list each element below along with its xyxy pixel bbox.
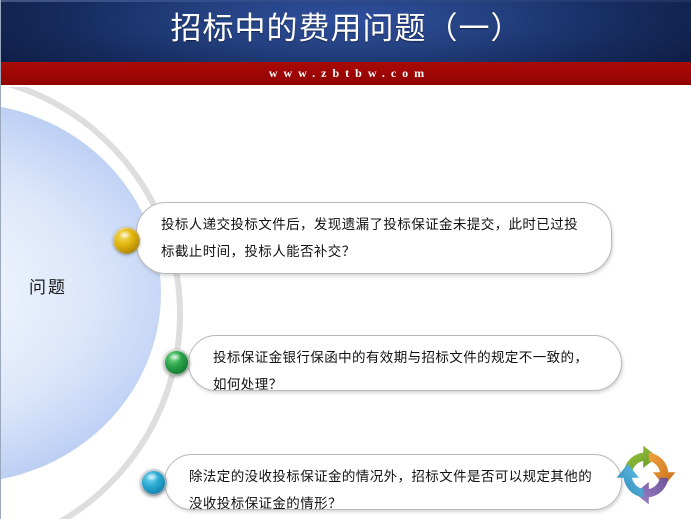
bullet-blue-highlight [146, 473, 158, 481]
page-title: 招标中的费用问题（一） [1, 5, 691, 53]
topic-label: 问题 [29, 273, 67, 298]
bullet-green-icon[interactable] [163, 349, 190, 376]
callout-text: 投标保证金银行保函中的有效期与招标文件的规定不一致的，如何处理？ [213, 345, 599, 399]
callout-text: 投标人递交投标文件后，发现遗漏了投标保证金未提交，此时已过投标截止时间，投标人能… [161, 212, 589, 266]
bullet-gold-icon[interactable] [113, 227, 140, 254]
presentation-slide: 招标中的费用问题（一） www.zbtbw.com 问题 投标人递交投标文件后，… [0, 0, 691, 519]
callout-box[interactable]: 除法定的没收投标保证金的情况外，招标文件是否可以规定其他的没收投标保证金的情形？ [164, 454, 622, 510]
callout-text: 除法定的没收投标保证金的情况外，招标文件是否可以规定其他的没收投标保证金的情形？ [189, 464, 599, 518]
bullet-gold-highlight [119, 231, 131, 239]
bullet-blue-icon[interactable] [140, 469, 167, 496]
four-arrow-cycle-logo-icon [611, 440, 681, 510]
decorative-grey-arc [1, 85, 183, 519]
website-url-text: www.zbtbw.com [1, 62, 691, 85]
header-top-hairline [1, 0, 691, 2]
bullet-green-highlight [169, 353, 181, 361]
callout-box[interactable]: 投标保证金银行保函中的有效期与招标文件的规定不一致的，如何处理？ [188, 335, 622, 391]
slide-body: 问题 投标人递交投标文件后，发现遗漏了投标保证金未提交，此时已过投标截止时间，投… [1, 85, 691, 519]
arc-top-mask [1, 85, 691, 87]
callout-box[interactable]: 投标人递交投标文件后，发现遗漏了投标保证金未提交，此时已过投标截止时间，投标人能… [136, 202, 612, 274]
